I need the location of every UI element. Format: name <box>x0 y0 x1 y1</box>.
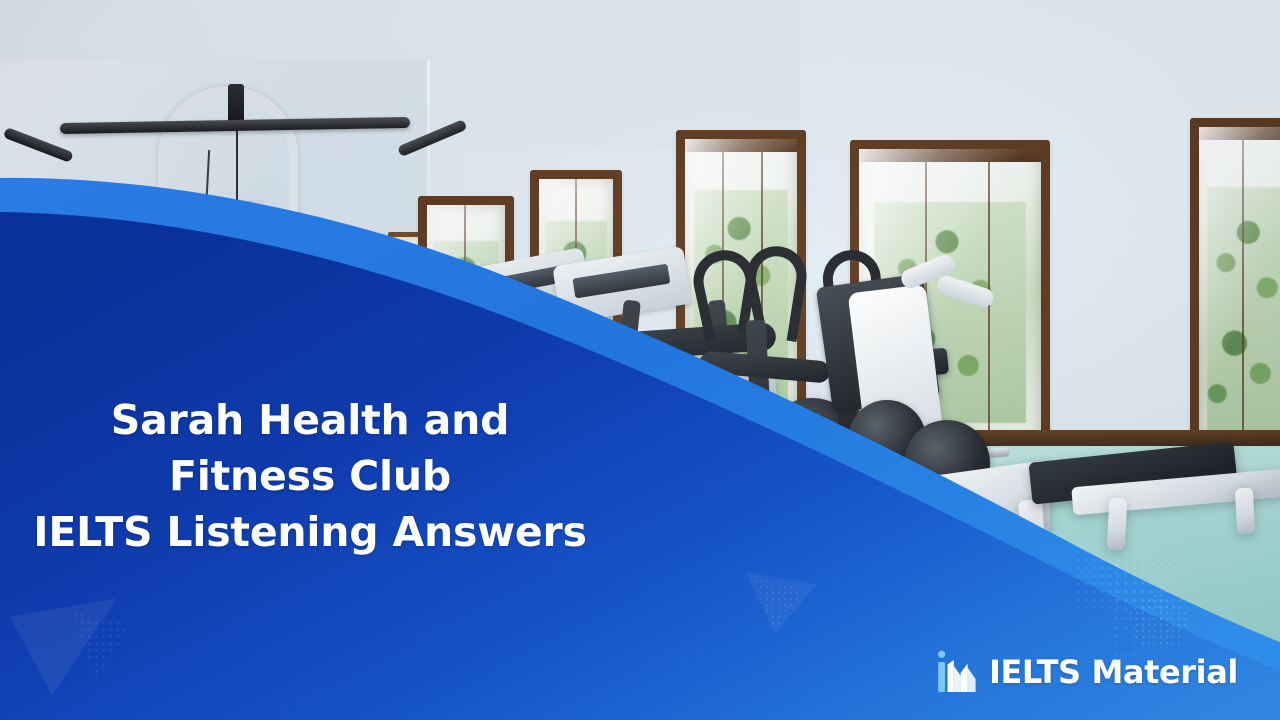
banner-headline: Sarah Health and Fitness Club IELTS List… <box>0 392 620 560</box>
headline-line-3: IELTS Listening Answers <box>0 504 620 560</box>
ielts-material-monogram-icon <box>936 648 978 696</box>
headline-line-2: Fitness Club <box>0 448 620 504</box>
brand-name: IELTS Material <box>989 653 1238 691</box>
headline-line-1: Sarah Health and <box>0 392 620 448</box>
brand-logo[interactable]: IELTS Material <box>936 648 1238 696</box>
blue-wave-overlay <box>0 0 1280 720</box>
promo-banner: Sarah Health and Fitness Club IELTS List… <box>0 0 1280 720</box>
